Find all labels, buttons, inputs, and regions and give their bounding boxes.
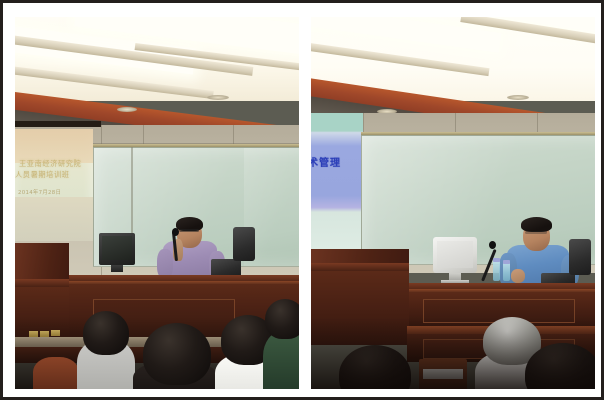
downlight-icon <box>507 95 529 100</box>
chair-back-dark <box>233 227 255 261</box>
speaker-glasses <box>525 231 547 234</box>
slide-title-line1: 王亚南经济研究院 <box>19 159 81 169</box>
podium-edge <box>407 289 595 292</box>
crt-monitor-left <box>99 233 135 265</box>
microphone-head-icon <box>172 228 179 236</box>
slide-title-line2: 人员暑期培训班 <box>15 170 70 180</box>
side-desk-top <box>15 279 69 287</box>
wall-seam <box>143 125 144 145</box>
downlight-icon <box>207 95 229 100</box>
speaker-hand <box>511 269 525 283</box>
audience-head <box>83 311 129 355</box>
water-bottle <box>503 263 510 281</box>
monitor-screen <box>437 241 473 268</box>
bottle-cap <box>503 260 510 264</box>
downlight-icon <box>117 107 137 112</box>
slide-date: 2014年7月28日 <box>18 188 61 196</box>
audience-head <box>143 323 211 385</box>
whiteboard-top-rail <box>361 132 595 135</box>
audience-head <box>265 299 299 339</box>
audience-body-green <box>263 331 299 389</box>
monitor-screen <box>102 236 132 260</box>
side-desk-top <box>311 263 409 271</box>
lcd-monitor-right <box>433 237 477 273</box>
photo-collage-frame: 王亚南经济研究院 人员暑期培训班 2014年7月28日 <box>0 0 604 400</box>
projection-screen-lower <box>15 197 93 241</box>
microphone-head-icon <box>489 241 496 249</box>
whiteboard-top-rail <box>93 144 299 147</box>
projection-screen-warm-band <box>15 129 93 163</box>
wall-shadow-band <box>15 121 101 127</box>
monitor-stand <box>111 265 123 272</box>
slide-title-line1: 术管理 <box>311 154 341 169</box>
water-bottle <box>493 261 500 281</box>
projection-screen-right <box>311 113 363 263</box>
chair-back-dark <box>569 239 591 275</box>
room-shadow <box>311 317 595 389</box>
audience-chair-left <box>33 357 79 389</box>
photo-panel-right[interactable]: 术管理 <box>311 17 595 389</box>
speaker-hair <box>521 217 552 232</box>
bottle-cap <box>493 258 500 262</box>
photo-panel-left[interactable]: 王亚南经济研究院 人员暑期培训班 2014年7月28日 <box>15 17 299 389</box>
podium-edge <box>67 281 299 284</box>
speaker-glasses <box>179 229 199 232</box>
